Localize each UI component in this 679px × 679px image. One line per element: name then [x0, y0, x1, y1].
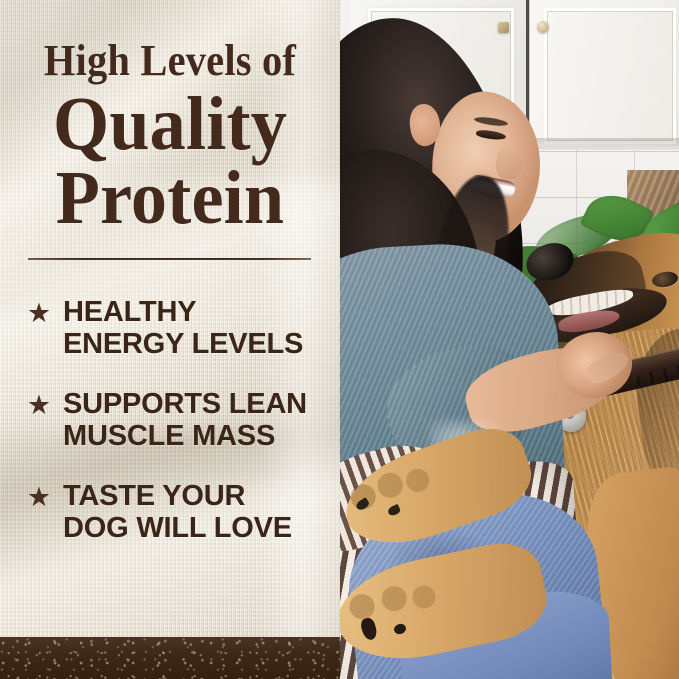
- benefit-line-2: DOG WILL LOVE: [63, 512, 332, 544]
- benefit-line-1: HEALTHY: [63, 296, 332, 328]
- benefit-text: TASTE YOUR DOG WILL LOVE: [63, 480, 332, 544]
- list-item: ★ HEALTHY ENERGY LEVELS: [26, 296, 332, 360]
- list-item: ★ TASTE YOUR DOG WILL LOVE: [26, 480, 332, 544]
- headline-line-3: Protein: [9, 158, 332, 238]
- headline-line-2: Quality: [9, 84, 332, 164]
- star-icon: ★: [26, 300, 52, 326]
- text-panel: High Levels of Quality Protein ★ HEALTHY…: [0, 0, 340, 679]
- product-feature-banner: High Levels of Quality Protein ★ HEALTHY…: [0, 0, 679, 679]
- benefit-line-1: SUPPORTS LEAN: [63, 388, 332, 420]
- bottom-kibble-band: [0, 637, 340, 679]
- benefits-list: ★ HEALTHY ENERGY LEVELS ★ SUPPORTS LEAN …: [26, 296, 332, 544]
- cabinet-knob-right-icon: [537, 21, 549, 33]
- benefit-line-1: TASTE YOUR: [63, 480, 332, 512]
- lifestyle-photo: [340, 0, 679, 679]
- star-icon: ★: [26, 484, 52, 510]
- list-item: ★ SUPPORTS LEAN MUSCLE MASS: [26, 388, 332, 452]
- cabinet-knob-left-icon: [498, 22, 509, 33]
- star-icon: ★: [26, 392, 52, 418]
- panel-copy: High Levels of Quality Protein ★ HEALTHY…: [0, 0, 340, 679]
- benefit-text: HEALTHY ENERGY LEVELS: [63, 296, 332, 360]
- cabinet-right-panel: [544, 8, 676, 144]
- headline-line-1: High Levels of: [14, 38, 327, 84]
- benefit-line-2: ENERGY LEVELS: [63, 328, 332, 360]
- benefit-text: SUPPORTS LEAN MUSCLE MASS: [63, 388, 332, 452]
- benefit-line-2: MUSCLE MASS: [63, 420, 332, 452]
- headline-divider: [28, 258, 311, 260]
